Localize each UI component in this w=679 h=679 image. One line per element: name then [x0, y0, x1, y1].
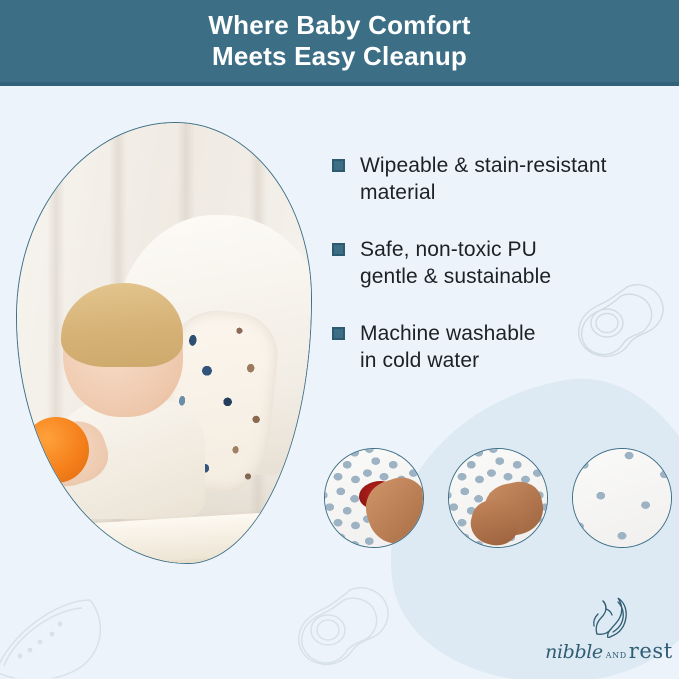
feature-item-3-line-1: Machine washable — [360, 320, 536, 347]
feature-item-1-text: Wipeable & stain-resistant material — [360, 152, 607, 206]
feature-item-3-line-2: in cold water — [360, 347, 536, 374]
thumbnail-clean-fabric[interactable] — [572, 448, 672, 548]
logo-word-rest: rest — [629, 639, 673, 663]
feature-item-1-line-2: material — [360, 179, 607, 206]
watermelon-slice-outline-icon — [0, 586, 110, 678]
thumbnail-spill-stain[interactable] — [324, 448, 424, 548]
thumbnail-wiping-hands[interactable] — [448, 448, 548, 548]
feature-item-2-line-2: gentle & sustainable — [360, 263, 551, 290]
brand-logo: nibble AND rest — [548, 596, 670, 663]
feature-list: Wipeable & stain-resistant material Safe… — [332, 152, 662, 404]
avocado-outline-icon — [288, 582, 398, 674]
header-title-line-1: Where Baby Comfort — [208, 10, 470, 41]
header-title-line-2: Meets Easy Cleanup — [212, 41, 467, 72]
feature-item-3-text: Machine washable in cold water — [360, 320, 536, 374]
feature-item-1: Wipeable & stain-resistant material — [332, 152, 662, 206]
square-bullet-icon — [332, 243, 345, 256]
logo-word-and: AND — [606, 651, 627, 660]
thumbnail-row — [324, 448, 672, 548]
orange-fruit — [23, 417, 89, 483]
koala-print-fabric — [572, 448, 672, 548]
feature-item-2: Safe, non-toxic PU gentle & sustainable — [332, 236, 662, 290]
square-bullet-icon — [332, 327, 345, 340]
square-bullet-icon — [332, 159, 345, 172]
feature-item-1-line-1: Wipeable & stain-resistant — [360, 152, 607, 179]
logo-word-nibble: nibble — [545, 641, 603, 663]
hero-photo-blob — [16, 122, 312, 564]
logo-wordmark: nibble AND rest — [548, 639, 670, 663]
squirrel-icon — [582, 596, 636, 638]
feature-item-3: Machine washable in cold water — [332, 320, 662, 374]
hero-photo-image — [17, 123, 311, 563]
feature-item-2-line-1: Safe, non-toxic PU — [360, 236, 551, 263]
infographic-root: Where Baby Comfort Meets Easy Cleanup — [0, 0, 679, 679]
feature-item-2-text: Safe, non-toxic PU gentle & sustainable — [360, 236, 551, 290]
header-banner: Where Baby Comfort Meets Easy Cleanup — [0, 0, 679, 86]
